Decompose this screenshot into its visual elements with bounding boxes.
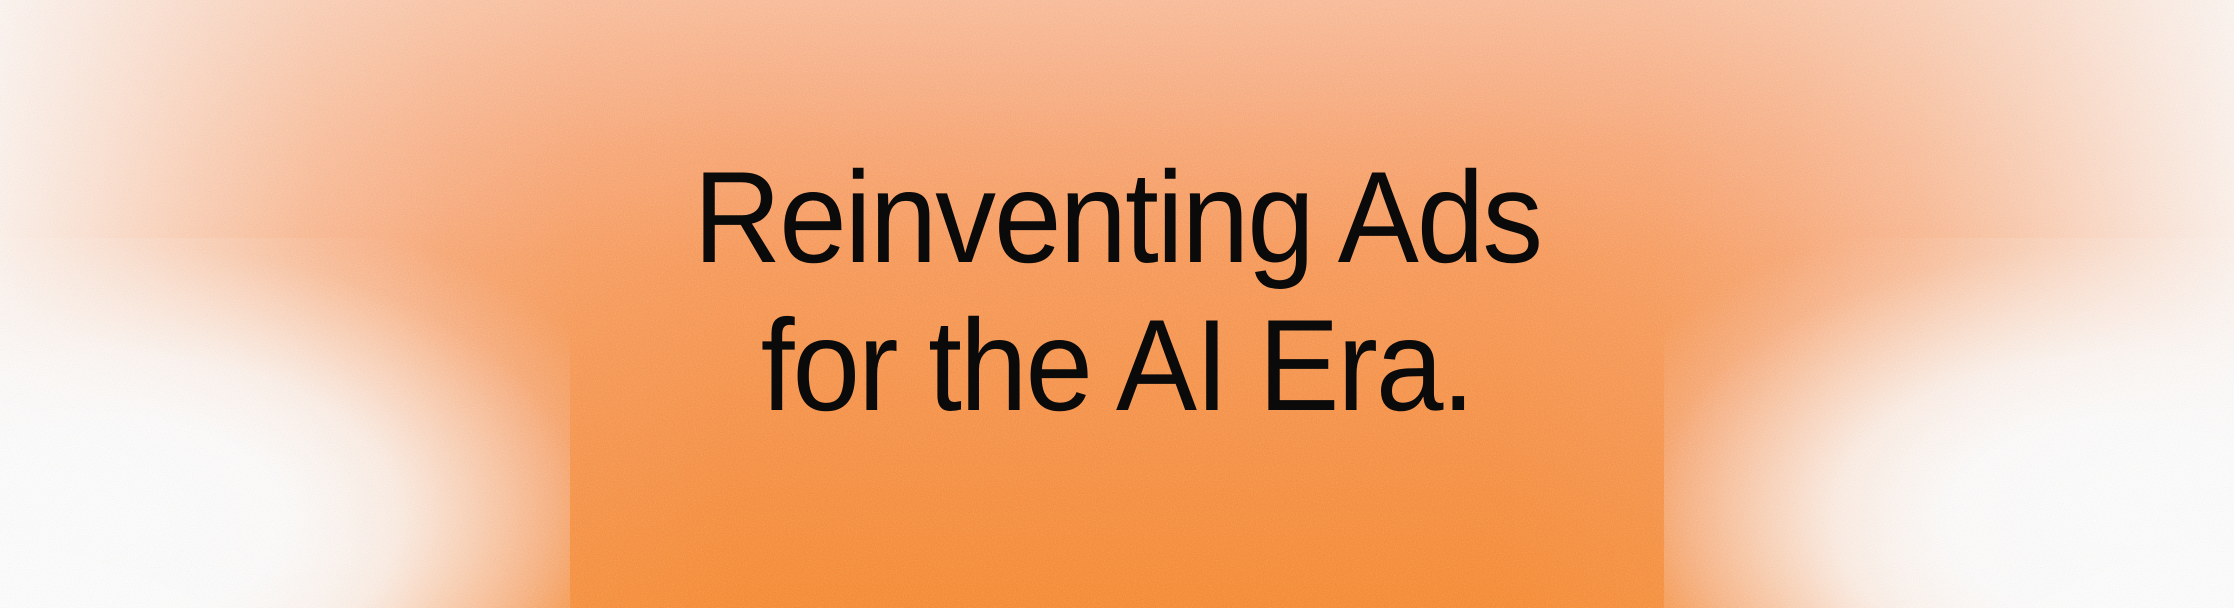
headline-line-1: Reinventing Ads <box>693 152 1541 282</box>
headline-line-2: for the AI Era. <box>761 300 1473 430</box>
hero-banner: Reinventing Ads for the AI Era. <box>0 0 2234 608</box>
headline-block: Reinventing Ads for the AI Era. <box>0 0 2234 608</box>
